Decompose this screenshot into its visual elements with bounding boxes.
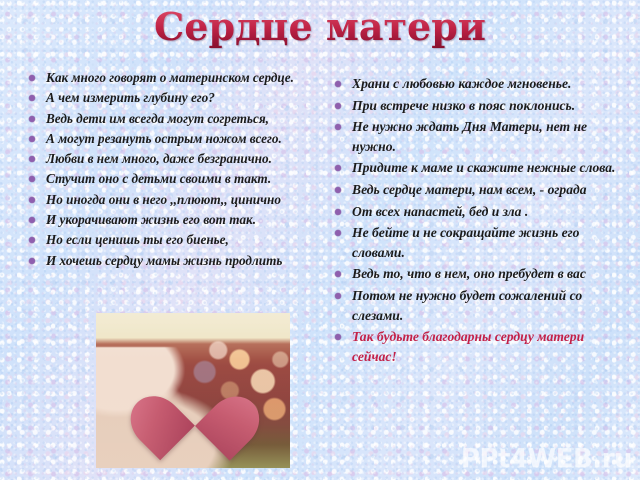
left-bullet-item: Стучит оно с детьми своими в такт. (24, 169, 320, 188)
left-bullet-item: А могут резануть острым ножом всего. (24, 129, 320, 148)
right-bullet-item: Храни с любовью каждое мгновенье. (330, 74, 630, 94)
left-bullet-item: Но если ценишь ты его биенье, (24, 230, 320, 249)
right-bullet-list: Храни с любовью каждое мгновенье.При вст… (330, 74, 630, 366)
right-bullet-item: Ведь то, что в нем, оно пребудет в вас (330, 264, 630, 284)
left-text-column: Как много говорят о материнском сердце.А… (24, 68, 320, 271)
left-bullet-item: Но иногда они в него ,,плюют,, цинично (24, 190, 320, 209)
watermark: PPt4WEB.ru (461, 444, 632, 474)
left-bullet-item: И укорачивают жизнь его вот так. (24, 210, 320, 229)
right-text-column: Храни с любовью каждое мгновенье.При вст… (330, 74, 630, 368)
presentation-slide: Сердце матери Как много говорят о матери… (0, 0, 640, 480)
right-bullet-item: От всех напастей, бед и зла . (330, 202, 630, 222)
left-bullet-item: Как много говорят о материнском сердце. (24, 68, 320, 87)
right-bullet-item: Потом не нужно будет сожалений со слезам… (330, 286, 630, 325)
slide-title-bar: Сердце матери (0, 2, 640, 52)
right-bullet-item: Не бейте и не сокращайте жизнь его слова… (330, 223, 630, 262)
right-bullet-item: При встрече низко в пояс поклонись. (330, 96, 630, 116)
right-bullet-item: Ведь сердце матери, нам всем, - ограда (330, 180, 630, 200)
heart-photo (96, 313, 290, 468)
left-bullet-item: А чем измерить глубину его? (24, 88, 320, 107)
left-bullet-item: Любви в нем много, даже безгранично. (24, 149, 320, 168)
right-bullet-item: Придите к маме и скажите нежные слова. (330, 158, 630, 178)
left-bullet-item: Ведь дети им всегда могут согреться, (24, 109, 320, 128)
left-bullet-list: Как много говорят о материнском сердце.А… (24, 68, 320, 270)
right-bullet-item: Так будьте благодарны сердцу матери сейч… (330, 327, 630, 366)
slide-title: Сердце матери (154, 2, 486, 52)
photo-glow-overlay (96, 313, 290, 468)
left-bullet-item: И хочешь сердцу мамы жизнь продлить (24, 251, 320, 270)
right-bullet-item: Не нужно ждать Дня Матери, нет не нужно. (330, 117, 630, 156)
